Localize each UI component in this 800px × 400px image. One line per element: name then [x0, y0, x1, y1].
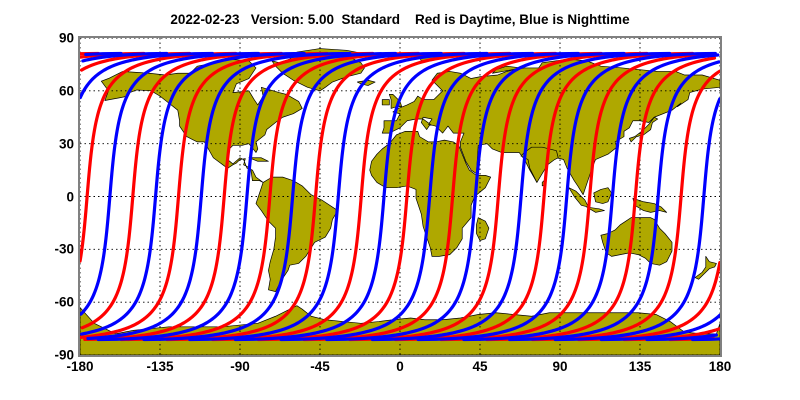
x-axis-tick-45: 45 — [472, 359, 487, 374]
chart-title: 2022-02-23 Version: 5.00 Standard Red is… — [0, 12, 800, 27]
x-axis-tick-135: 135 — [629, 359, 652, 374]
x-axis-tick-180: 180 — [709, 359, 732, 374]
y-axis-tick--60: -60 — [40, 295, 74, 310]
landmass-polygon — [382, 100, 389, 105]
y-axis-tick--30: -30 — [40, 242, 74, 257]
y-axis-tick-0: 0 — [40, 189, 74, 204]
y-axis-tick-labels: -90-60-300306090 — [34, 36, 74, 357]
x-axis-tick-0: 0 — [396, 359, 404, 374]
x-axis-tick-labels: -180-135-90-4504590135180 — [78, 359, 722, 381]
x-axis-tick--135: -135 — [146, 359, 173, 374]
map-canvas — [80, 38, 720, 355]
map-plot-area[interactable] — [78, 36, 722, 357]
chart-root: 2022-02-23 Version: 5.00 Standard Red is… — [0, 0, 800, 400]
x-axis-tick--180: -180 — [66, 359, 93, 374]
y-axis-tick-90: 90 — [40, 31, 74, 46]
x-axis-tick--45: -45 — [310, 359, 330, 374]
ground-track-path — [693, 339, 720, 340]
y-axis-tick-30: 30 — [40, 136, 74, 151]
y-axis-tick-60: 60 — [40, 83, 74, 98]
x-axis-tick--90: -90 — [230, 359, 250, 374]
x-axis-tick-90: 90 — [552, 359, 567, 374]
